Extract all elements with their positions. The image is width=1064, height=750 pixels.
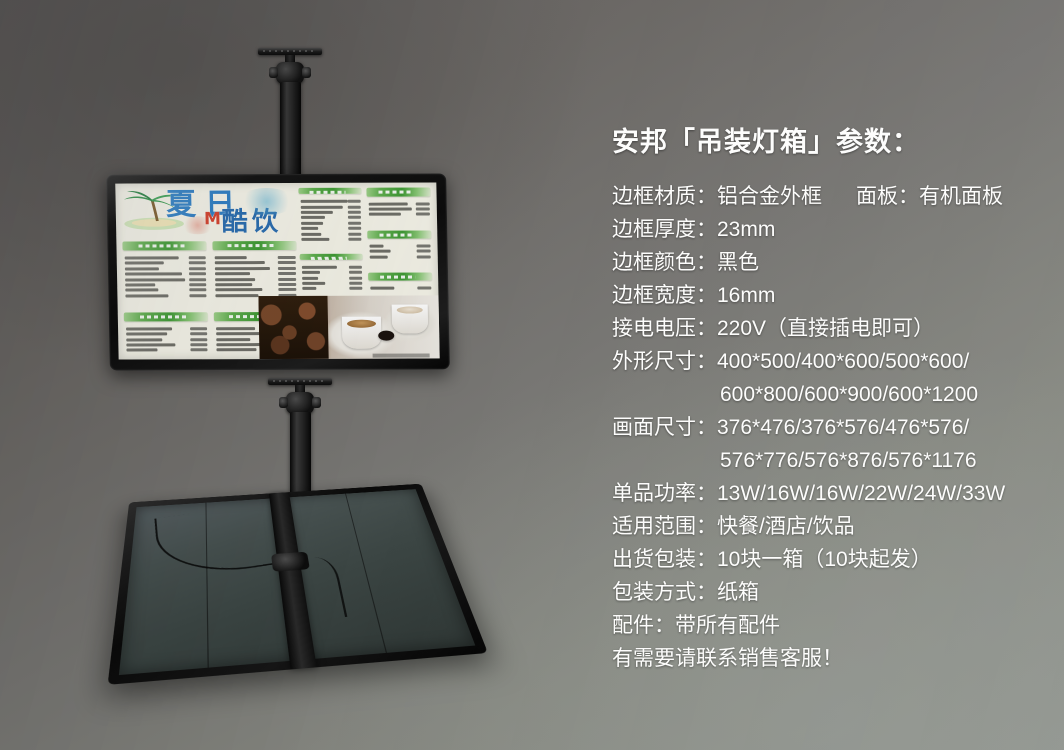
spec-label: 画面尺寸： bbox=[612, 411, 717, 444]
menu-item-row bbox=[125, 267, 206, 270]
lightbox-back-panel bbox=[108, 484, 488, 685]
coffee-cup-back bbox=[392, 304, 429, 333]
spec-line: 外形尺寸：400*500/400*600/500*600/ bbox=[612, 345, 1052, 378]
menu-item-row bbox=[369, 202, 429, 205]
menu-item-row bbox=[215, 278, 296, 281]
spec-label: 边框颜色： bbox=[612, 246, 717, 279]
menu-item-row bbox=[125, 262, 206, 265]
spec-title: 安邦「吊装灯箱」参数： bbox=[612, 126, 1052, 158]
menu-footer-logo bbox=[372, 353, 430, 357]
spec-label: 适用范围： bbox=[612, 510, 717, 543]
menu-item-row bbox=[302, 276, 362, 279]
spec-value: 13W/16W/16W/22W/24W/33W bbox=[717, 477, 1005, 510]
menu-item-row bbox=[369, 213, 429, 216]
mount-ceiling-plate-upper bbox=[258, 48, 322, 55]
menu-category-banner bbox=[368, 230, 431, 238]
spec-label: 外形尺寸： bbox=[612, 345, 717, 378]
mount-knob-right-upper bbox=[302, 67, 311, 78]
menu-item-row bbox=[215, 267, 296, 270]
coffee-cup-front bbox=[342, 317, 382, 349]
mount-pivot-joint-lower bbox=[286, 392, 314, 414]
menu-category-banner bbox=[368, 273, 431, 281]
lightbox-menu-screen: 夏 日 酷 饮 M bbox=[115, 182, 439, 359]
spec-value: 铝合金外框 bbox=[717, 180, 822, 213]
menu-coffee-photo bbox=[259, 295, 440, 359]
spec-label: 包装方式： bbox=[612, 576, 717, 609]
mount-pivot-joint-upper bbox=[276, 62, 304, 84]
menu-item-row bbox=[215, 283, 296, 286]
menu-column bbox=[298, 188, 363, 290]
menu-item-row bbox=[301, 211, 361, 214]
menu-item-row bbox=[127, 349, 208, 352]
menu-item-row bbox=[125, 256, 206, 259]
spec-line: 适用范围：快餐/酒店/饮品 bbox=[612, 510, 1052, 543]
menu-headline-artwork: 夏 日 酷 饮 M bbox=[115, 183, 296, 243]
back-mount-clamp bbox=[271, 552, 311, 572]
product-photo-canvas: 夏 日 酷 饮 M bbox=[0, 0, 1064, 750]
menu-item-row bbox=[127, 332, 208, 335]
menu-item-row bbox=[370, 255, 430, 258]
menu-category-banner bbox=[300, 253, 363, 259]
spec-line: 接电电压：220V（直接插电即可） bbox=[612, 312, 1052, 345]
menu-item-row bbox=[301, 238, 361, 241]
spec-line: 单品功率：13W/16W/16W/22W/24W/33W bbox=[612, 477, 1052, 510]
spec-value: 带所有配件 bbox=[675, 609, 780, 642]
menu-item-row bbox=[214, 256, 295, 259]
spec-value-secondary: 有机面板 bbox=[919, 180, 1003, 213]
spec-value: 600*800/600*900/600*1200 bbox=[720, 378, 978, 411]
spec-line: 576*776/576*876/576*1176 bbox=[612, 444, 1052, 477]
spec-line: 配件：带所有配件 bbox=[612, 609, 1052, 642]
menu-item-row bbox=[126, 289, 207, 292]
spec-value: 纸箱 bbox=[717, 576, 759, 609]
coffee-saucer-shadow bbox=[378, 331, 394, 341]
spec-value: 376*476/376*576/476*576/ bbox=[717, 411, 969, 444]
menu-item-row bbox=[369, 207, 429, 210]
menu-item-rows bbox=[212, 254, 297, 297]
spec-label: 配件： bbox=[612, 609, 675, 642]
menu-item-rows bbox=[124, 325, 209, 352]
menu-item-rows bbox=[369, 285, 432, 290]
menu-item-rows bbox=[368, 242, 431, 258]
spec-line: 有需要请联系销售客服！ bbox=[612, 642, 1052, 675]
menu-headline-text: 夏 日 酷 饮 M bbox=[166, 190, 293, 235]
menu-item-row bbox=[301, 232, 361, 235]
menu-category-banner bbox=[212, 241, 296, 250]
spec-value: 10块一箱（10块起发） bbox=[717, 543, 932, 576]
spec-label: 边框厚度： bbox=[612, 213, 717, 246]
spec-gap bbox=[822, 180, 856, 213]
specification-text-block: 安邦「吊装灯箱」参数： 边框材质：铝合金外框面板：有机面板边框厚度：23mm边框… bbox=[612, 126, 1052, 675]
spec-line: 包装方式：纸箱 bbox=[612, 576, 1052, 609]
menu-category-banner bbox=[367, 188, 430, 196]
menu-item-row bbox=[302, 266, 362, 269]
menu-category-banner bbox=[124, 312, 208, 321]
lightbox-back-frame bbox=[108, 484, 488, 685]
lightbox-front-panel: 夏 日 酷 饮 M bbox=[106, 173, 450, 370]
mount-knob-left-lower bbox=[279, 397, 288, 408]
spec-value: 400*500/400*600/500*600/ bbox=[717, 345, 969, 378]
menu-item-row bbox=[215, 288, 296, 291]
menu-category-banner bbox=[123, 241, 207, 250]
menu-item-rows bbox=[367, 200, 430, 216]
mount-ceiling-plate-lower bbox=[268, 378, 332, 385]
spec-line: 出货包装：10块一箱（10块起发） bbox=[612, 543, 1052, 576]
menu-item-row bbox=[125, 272, 206, 275]
spec-line-list: 边框材质：铝合金外框面板：有机面板边框厚度：23mm边框颜色：黑色边框宽度：16… bbox=[612, 180, 1052, 675]
menu-item-row bbox=[127, 338, 208, 341]
mount-knob-left-upper bbox=[269, 67, 278, 78]
mount-knob-right-lower bbox=[312, 397, 321, 408]
spec-value: 23mm bbox=[717, 213, 775, 246]
menu-column bbox=[367, 188, 432, 290]
menu-item-row bbox=[126, 327, 207, 330]
menu-item-row bbox=[371, 287, 431, 290]
spec-line: 边框材质：铝合金外框面板：有机面板 bbox=[612, 180, 1052, 213]
spec-label: 单品功率： bbox=[612, 477, 717, 510]
mount-plate-holes-icon bbox=[263, 50, 317, 52]
menu-columns-right bbox=[298, 188, 432, 291]
menu-item-row bbox=[301, 205, 361, 208]
menu-item-row bbox=[301, 200, 361, 203]
spec-line: 600*800/600*900/600*1200 bbox=[612, 378, 1052, 411]
spec-line: 边框宽度：16mm bbox=[612, 279, 1052, 312]
menu-item-row bbox=[301, 222, 361, 225]
spec-value: 黑色 bbox=[717, 246, 759, 279]
spec-line: 边框颜色：黑色 bbox=[612, 246, 1052, 279]
menu-item-row bbox=[215, 272, 296, 275]
menu-category-banner bbox=[298, 188, 361, 194]
menu-item-row bbox=[126, 294, 207, 297]
spec-value: 576*776/576*876/576*1176 bbox=[720, 444, 977, 477]
spec-value: 快餐/酒店/饮品 bbox=[717, 510, 855, 543]
menu-item-row bbox=[302, 287, 362, 290]
spec-label: 出货包装： bbox=[612, 543, 717, 576]
menu-item-row bbox=[301, 216, 361, 219]
menu-item-row bbox=[301, 227, 361, 230]
spec-label: 有需要请联系销售客服！ bbox=[612, 642, 843, 675]
spec-value: 220V（直接插电即可） bbox=[717, 312, 934, 345]
spec-line: 边框厚度：23mm bbox=[612, 213, 1052, 246]
menu-item-row bbox=[302, 282, 362, 285]
menu-item-row bbox=[370, 250, 430, 253]
spec-line: 画面尺寸：376*476/376*576/476*576/ bbox=[612, 411, 1052, 444]
menu-item-rows bbox=[300, 264, 364, 291]
menu-item-rows bbox=[123, 254, 208, 297]
menu-item-row bbox=[126, 283, 207, 286]
spec-label: 边框宽度： bbox=[612, 279, 717, 312]
lightbox-back-surface bbox=[119, 489, 475, 675]
menu-column bbox=[123, 241, 209, 357]
spec-label-secondary: 面板： bbox=[856, 180, 919, 213]
spec-value: 16mm bbox=[717, 279, 775, 312]
spec-label: 边框材质： bbox=[612, 180, 717, 213]
lightbox-aluminium-frame: 夏 日 酷 饮 M bbox=[106, 173, 450, 370]
menu-item-rows bbox=[299, 198, 363, 241]
menu-item-row bbox=[302, 271, 362, 274]
menu-item-row bbox=[127, 343, 208, 346]
spec-label: 接电电压： bbox=[612, 312, 717, 345]
menu-item-row bbox=[370, 244, 430, 247]
mount-plate-holes-icon bbox=[273, 380, 327, 382]
menu-item-row bbox=[125, 278, 206, 281]
menu-item-row bbox=[214, 261, 295, 264]
